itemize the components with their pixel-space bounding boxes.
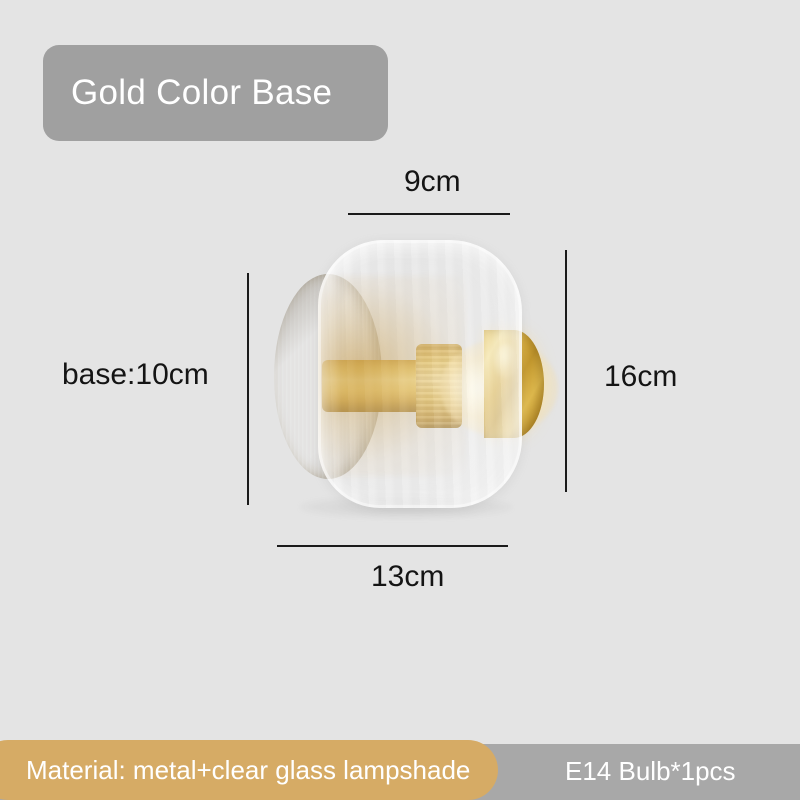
gold-color-base-badge: Gold Color Base [43,45,388,141]
dimension-label-left: base:10cm [62,358,209,392]
dimension-line-top [348,213,510,215]
dimension-label-right: 16cm [604,360,677,394]
material-info-label: Material: metal+clear glass lampshade [0,755,470,786]
dimension-line-bottom [277,545,508,547]
dimension-label-bottom: 13cm [371,560,444,594]
dimension-line-right [565,250,567,492]
product-image-canvas: Gold Color Base 9cm base:10cm 16cm 13cm … [0,0,800,800]
wall-lamp-product [262,232,562,517]
glass-rim-highlight [318,240,522,508]
clear-glass-lampshade [318,240,522,508]
material-info-bar: Material: metal+clear glass lampshade [0,740,498,800]
dimension-line-left [247,273,249,505]
bulb-info-label: E14 Bulb*1pcs [565,756,736,787]
badge-label: Gold Color Base [43,73,332,113]
dimension-label-top: 9cm [404,165,461,199]
